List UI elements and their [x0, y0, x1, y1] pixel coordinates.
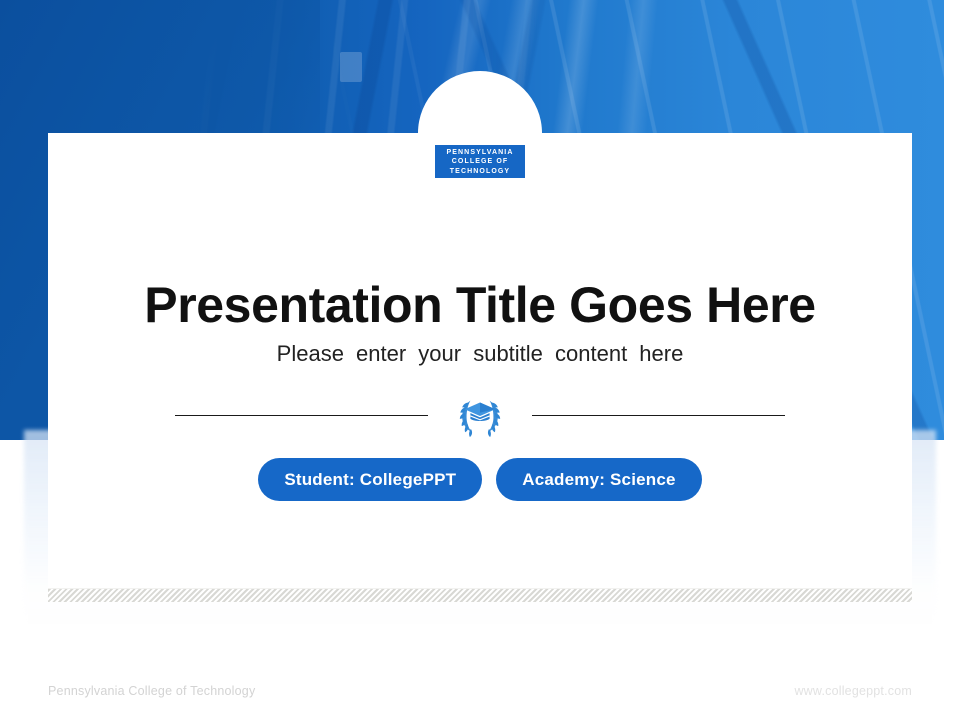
- footer-institution-label: Pennsylvania College of Technology: [48, 684, 255, 698]
- logo-line-1: PENNSYLVANIA: [446, 148, 513, 158]
- academy-pill[interactable]: Academy: Science: [496, 458, 701, 501]
- slide-title: Presentation Title Goes Here: [0, 278, 960, 332]
- slide-subtitle: Please enter your subtitle content here: [0, 340, 960, 368]
- divider-row: [48, 390, 912, 440]
- divider-line-right: [532, 415, 785, 416]
- divider-line-left: [175, 415, 428, 416]
- footer-website-label: www.collegeppt.com: [794, 684, 912, 698]
- meta-pill-row: Student: CollegePPT Academy: Science: [48, 458, 912, 501]
- student-pill[interactable]: Student: CollegePPT: [258, 458, 482, 501]
- institution-logo: PENNSYLVANIA COLLEGE OF TECHNOLOGY: [435, 145, 525, 178]
- logo-line-2: COLLEGE OF: [452, 157, 509, 167]
- graduation-cap-laurel-wreath-icon: [456, 391, 504, 439]
- logo-line-3: TECHNOLOGY: [450, 167, 510, 177]
- presentation-slide: PENNSYLVANIA COLLEGE OF TECHNOLOGY Prese…: [0, 0, 960, 720]
- card-bottom-hatch-strip: [48, 588, 912, 602]
- background-panel-small: [340, 52, 362, 82]
